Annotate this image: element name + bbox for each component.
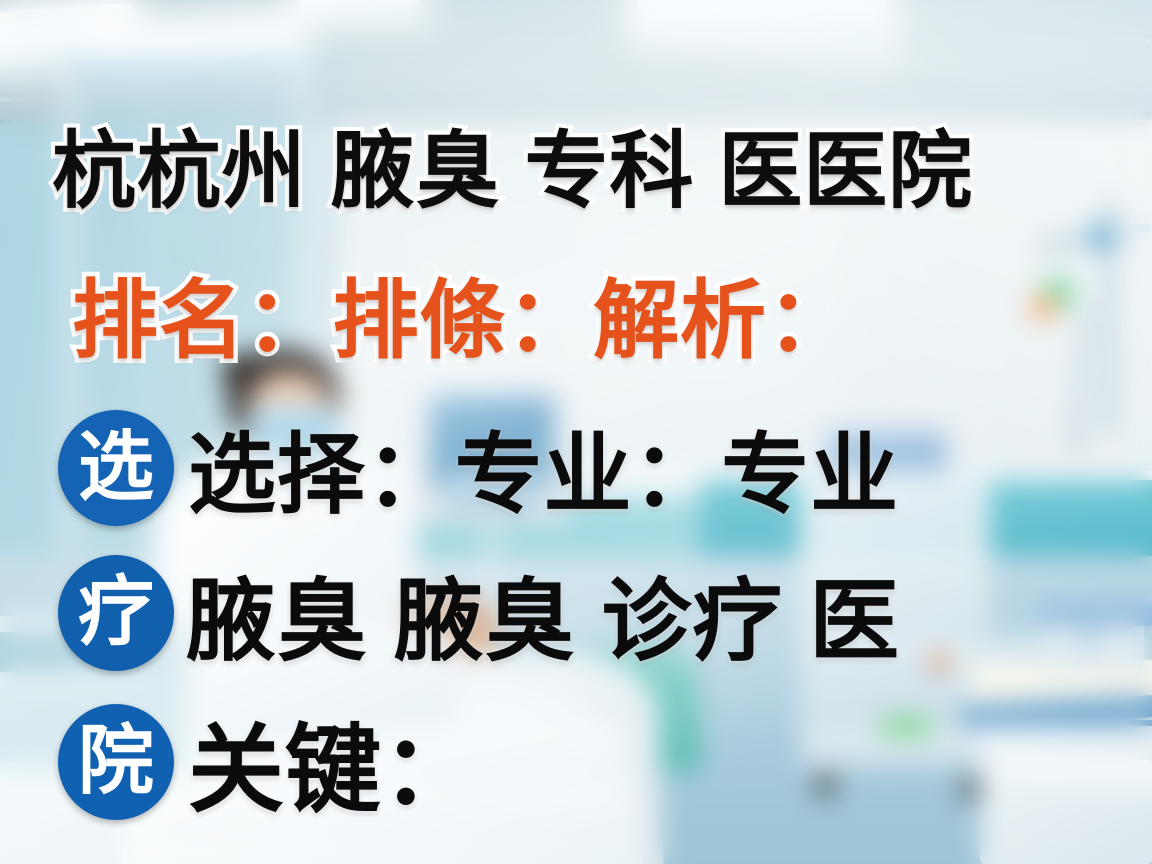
poster-canvas: 杭杭州 腋臭 专科 医医院 排名：排條：解析： 选 选择：专业：专业 疗 腋臭 …	[0, 0, 1152, 864]
text-overlay: 杭杭州 腋臭 专科 医医院 排名：排條：解析： 选 选择：专业：专业 疗 腋臭 …	[0, 0, 1152, 864]
feature-row-hospital: 院 关键：	[58, 692, 479, 831]
feature-row-treatment: 疗 腋臭 腋臭 诊疗 医	[58, 548, 900, 678]
badge-circle-hospital: 院	[58, 704, 174, 820]
badge-circle-treatment: 疗	[58, 555, 174, 671]
feature-row-treatment-text: 腋臭 腋臭 诊疗 医	[186, 548, 900, 678]
badge-circle-select: 选	[58, 410, 174, 526]
feature-row-select: 选 选择：专业：专业	[58, 404, 899, 531]
feature-row-select-text: 选择：专业：专业	[188, 404, 899, 531]
headline: 杭杭州 腋臭 专科 医医院	[52, 104, 973, 225]
subheadline: 排名：排條：解析：	[72, 250, 854, 375]
feature-row-hospital-text: 关键：	[188, 692, 479, 831]
